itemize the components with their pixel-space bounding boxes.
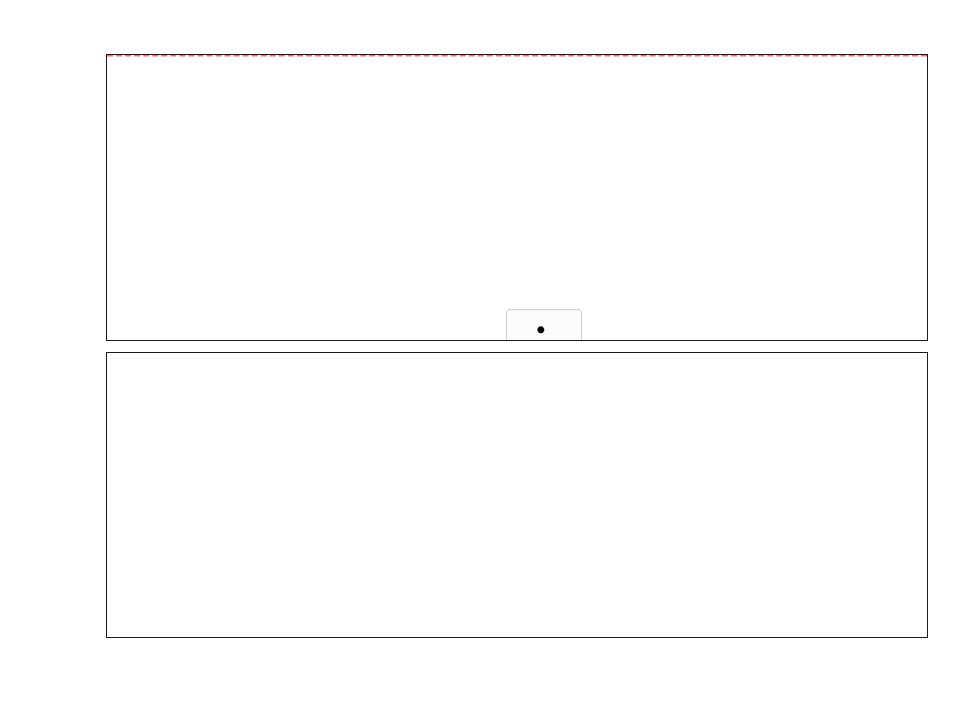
threshold-line xyxy=(107,54,927,57)
figure xyxy=(0,0,960,720)
top-panel-legend xyxy=(506,309,582,341)
bottom-panel-axes xyxy=(106,352,928,638)
dot-marker-icon xyxy=(518,320,564,340)
top-panel-axes xyxy=(106,54,928,341)
legend-item-measurements xyxy=(518,317,568,341)
